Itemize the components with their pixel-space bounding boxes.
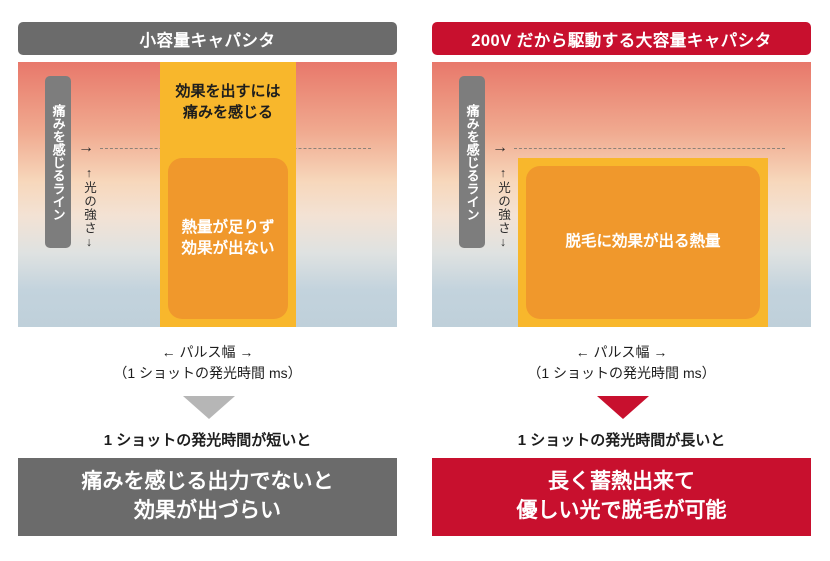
left-title-text: 小容量キャパシタ — [140, 27, 276, 51]
right-pulse-width-caption: ← パルス幅 → （1 ショットの発光時間 ms） — [432, 342, 811, 384]
right-down-triangle-icon — [597, 396, 649, 419]
left-pulse-width-caption: ← パルス幅 → （1 ショットの発光時間 ms） — [18, 342, 397, 384]
left-bar-top-line2: 痛みを感じる — [183, 104, 273, 121]
left-pulse-width-sublabel: （1 ショットの発光時間 ms） — [18, 363, 397, 384]
right-result-line2: 優しい光で脱毛が可能 — [517, 497, 727, 526]
right-threshold-arrow-icon: → — [492, 140, 508, 156]
left-pain-threshold-label: 痛みを感じるライン — [45, 76, 71, 248]
right-result-box: 長く蓄熱出来て 優しい光で脱毛が可能 — [432, 458, 811, 536]
left-result-line1: 痛みを感じる出力でないと — [82, 468, 334, 497]
right-light-intensity-axis-label: ↑光の強さ↓ — [493, 166, 510, 250]
left-down-triangle-icon — [183, 396, 235, 419]
right-title-text: 200V だから駆動する大容量キャパシタ — [471, 27, 772, 51]
left-result-line2: 効果が出づらい — [82, 497, 334, 526]
right-pain-threshold-label: 痛みを感じるライン — [459, 76, 485, 248]
column-large-capacitor: 200V だから駆動する大容量キャパシタ 痛みを感じるライン → ↑光の強さ↓ … — [424, 0, 820, 561]
right-title-banner: 200V だから駆動する大容量キャパシタ — [432, 22, 811, 55]
left-title-banner: 小容量キャパシタ — [18, 22, 397, 55]
infographic-root: 小容量キャパシタ 痛みを感じるライン → ↑光の強さ↓ 効果を出すには 痛みを感… — [0, 0, 830, 561]
column-small-capacitor: 小容量キャパシタ 痛みを感じるライン → ↑光の強さ↓ 効果を出すには 痛みを感… — [10, 0, 406, 561]
left-light-intensity-axis-label: ↑光の強さ↓ — [79, 166, 96, 250]
left-bar-inner-line2: 効果が出ない — [181, 240, 274, 257]
left-bar-top-line1: 効果を出すには — [175, 83, 280, 100]
left-pulse-bar-inner: 熱量が足りず 効果が出ない — [168, 158, 288, 319]
right-pulse-bar-inner: 脱毛に効果が出る熱量 — [526, 166, 760, 319]
right-conclusion-lead: 1 ショットの発光時間が長いと — [432, 429, 811, 450]
right-result-line1: 長く蓄熱出来て — [517, 468, 727, 497]
left-bar-inner-line1: 熱量が足りず — [181, 219, 274, 236]
left-result-box: 痛みを感じる出力でないと 効果が出づらい — [18, 458, 397, 536]
left-threshold-arrow-icon: → — [78, 140, 94, 156]
right-pulse-width-sublabel: （1 ショットの発光時間 ms） — [432, 363, 811, 384]
right-bar-inner-text: 脱毛に効果が出る熱量 — [565, 233, 720, 250]
right-threshold-dashed-line — [514, 148, 785, 149]
left-graph-panel: 痛みを感じるライン → ↑光の強さ↓ 効果を出すには 痛みを感じる 熱量が足りず… — [18, 62, 397, 327]
left-conclusion-lead: 1 ショットの発光時間が短いと — [18, 429, 397, 450]
left-pulse-bar-top-caption: 効果を出すには 痛みを感じる — [160, 82, 296, 123]
left-pulse-width-label: ← パルス幅 → — [18, 342, 397, 363]
right-pulse-width-label: ← パルス幅 → — [432, 342, 811, 363]
right-graph-panel: 痛みを感じるライン → ↑光の強さ↓ 脱毛に効果が出る熱量 — [432, 62, 811, 327]
